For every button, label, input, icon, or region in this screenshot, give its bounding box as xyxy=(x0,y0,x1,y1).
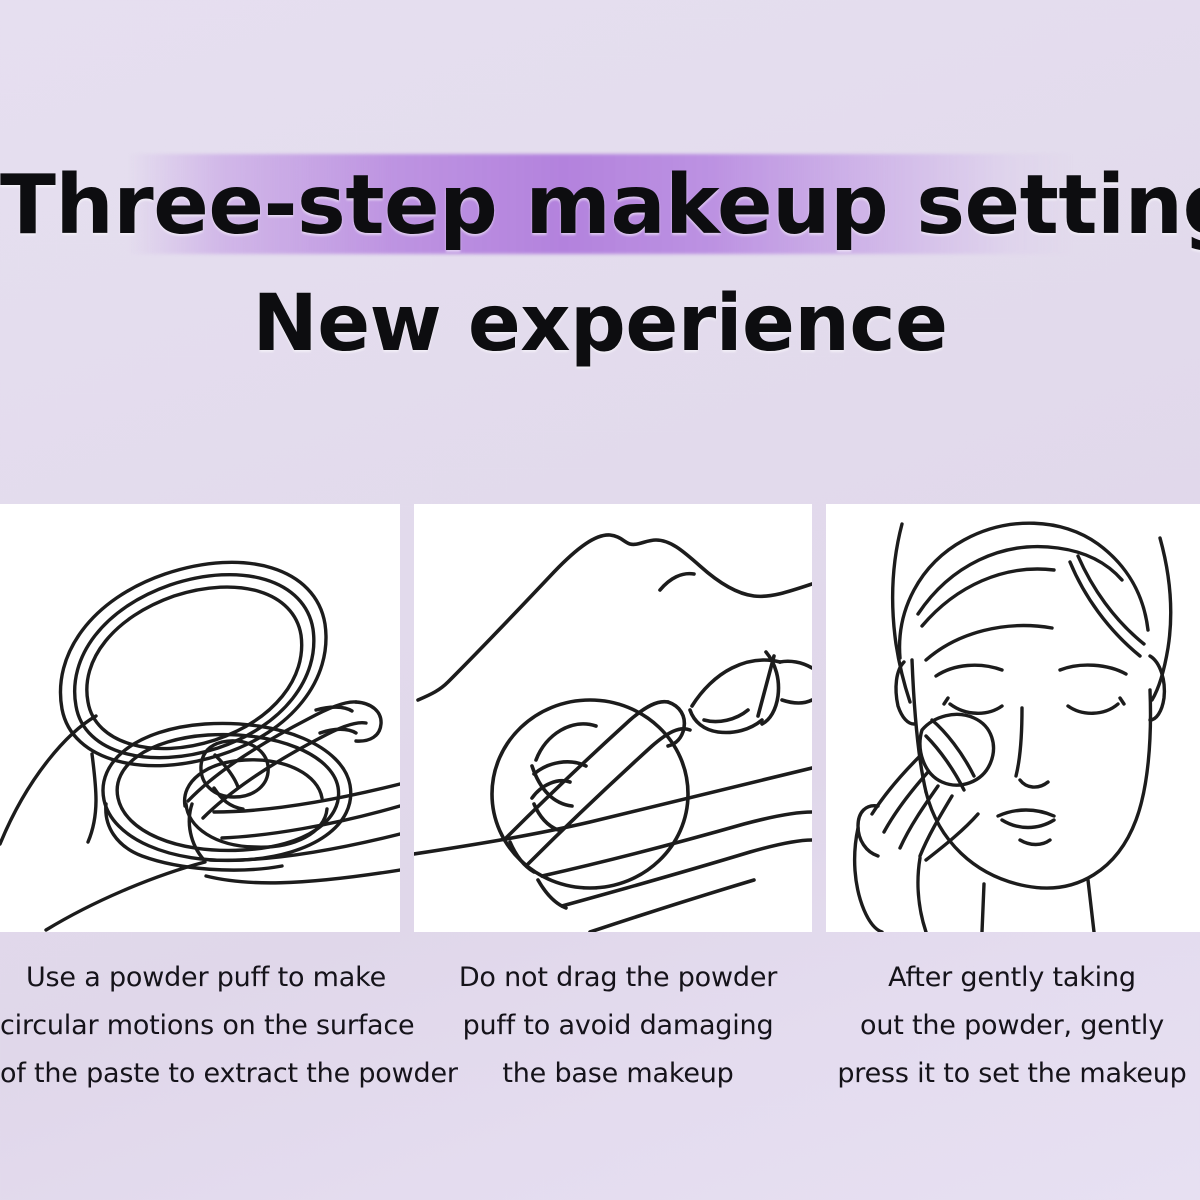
caption-line: the base makeup xyxy=(412,1050,824,1098)
caption-line: After gently taking xyxy=(824,954,1200,1002)
pressing-puff-on-face-icon xyxy=(826,504,1200,932)
hero-section: Three-step makeup setting New experience xyxy=(0,0,1200,504)
caption-step-1: Use a powder puff to make circular motio… xyxy=(0,932,412,1112)
caption-line: Use a powder puff to make xyxy=(0,954,412,1002)
caption-step-3: After gently taking out the powder, gent… xyxy=(824,932,1200,1112)
page-title-line-2: New experience xyxy=(0,278,1200,370)
illustration-panel-strip xyxy=(0,504,1200,932)
page-title-line-1: Three-step makeup setting xyxy=(0,158,1200,254)
caption-row: Use a powder puff to make circular motio… xyxy=(0,932,1200,1112)
caption-line: out the powder, gently xyxy=(824,1002,1200,1050)
caption-line: of the paste to extract the powder xyxy=(0,1050,412,1098)
caption-step-2: Do not drag the powder puff to avoid dam… xyxy=(412,932,824,1112)
caption-line: press it to set the makeup xyxy=(824,1050,1200,1098)
panel-step-2 xyxy=(414,504,812,932)
panel-step-1 xyxy=(0,504,400,932)
caption-line: Do not drag the powder xyxy=(412,954,824,1002)
caption-line: circular motions on the surface xyxy=(0,1002,412,1050)
caption-line: puff to avoid damaging xyxy=(412,1002,824,1050)
compact-and-powder-puff-icon xyxy=(0,504,400,932)
panel-step-3 xyxy=(826,504,1200,932)
hand-holding-powder-puff-icon xyxy=(414,504,812,932)
